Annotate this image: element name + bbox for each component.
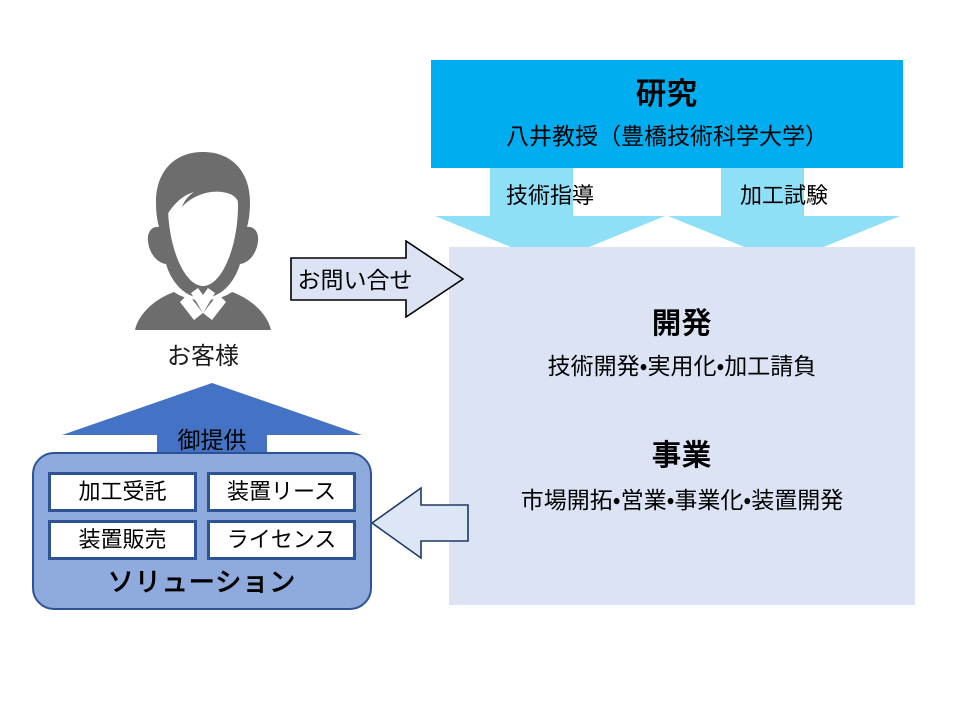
arrow-technical-guidance-label: 技術指導 [435,178,665,210]
person-silhouette-shape [128,150,278,330]
solution-box: 加工受託 装置リース 装置販売 ライセンス ソリューション [32,452,372,610]
business-text: 市場開拓・営業・事業化・装置開発 [449,481,915,515]
solution-title: ソリューション [34,562,370,599]
solution-item-license[interactable]: ライセンス [207,520,356,560]
business-heading: 事業 [449,432,915,474]
arrow-processing-test-label: 加工試験 [668,178,900,210]
development-text: 技術開発・実用化・加工請負 [449,347,915,381]
solution-item-equipment-sales[interactable]: 装置販売 [48,520,197,560]
arrow-solution-delivery [371,486,469,560]
solution-item-processing-contract[interactable]: 加工受託 [48,472,197,512]
arrow-inquiry-label: お問い合せ [290,261,420,295]
arrow-provide-label: 御提供 [62,421,362,455]
research-subtitle: 八井教授（豊橋技術科学大学） [431,117,903,151]
arrow-inquiry: お問い合せ [290,240,464,318]
customer-label: お客様 [98,336,308,371]
development-business-panel: 開発 技術開発・実用化・加工請負 事業 市場開拓・営業・事業化・装置開発 [449,247,915,605]
development-heading: 開発 [449,300,915,342]
diagram-canvas: 研究 八井教授（豊橋技術科学大学） 技術指導 加工試験 開発 技術開発・実用化・… [0,0,960,720]
arrow-left-shape [371,486,469,560]
research-box: 研究 八井教授（豊橋技術科学大学） [431,60,903,168]
research-title: 研究 [431,69,903,113]
arrow-provide: 御提供 [62,383,362,463]
solution-items-grid: 加工受託 装置リース 装置販売 ライセンス [48,472,356,560]
solution-item-equipment-lease[interactable]: 装置リース [207,472,356,512]
person-silhouette-icon [128,150,278,330]
